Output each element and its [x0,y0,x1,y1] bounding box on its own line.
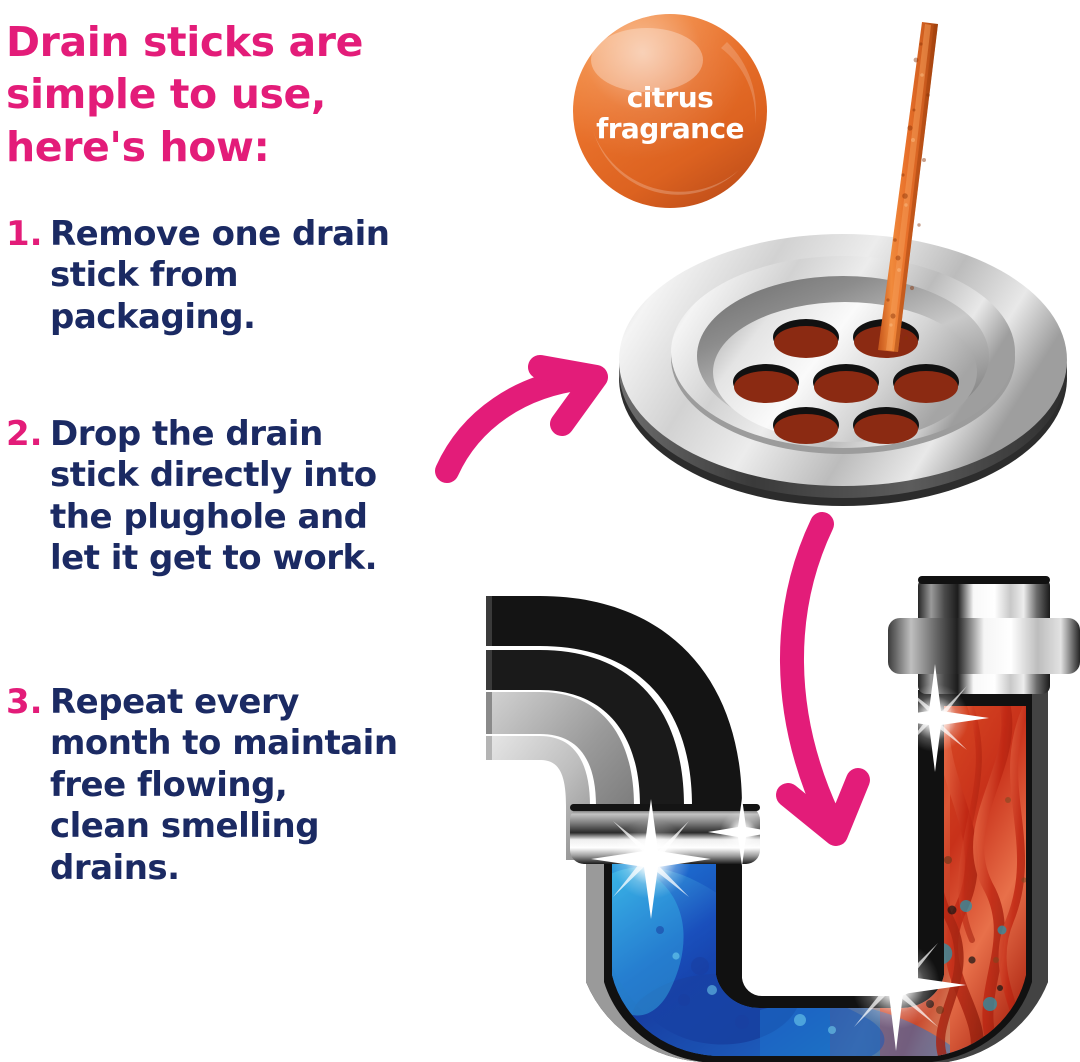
badge-text: citrus fragrance [571,12,769,210]
sink-drain-strainer [619,234,1067,506]
citrus-fragrance-badge: citrus fragrance [571,12,769,210]
pipe-top-fitting [888,576,1080,694]
step-number-2: 2. [2,414,50,455]
step-item-2: 2. Drop the drain stick directly into th… [2,414,488,580]
step-text-1: Remove one drain stick from packaging. [50,214,488,338]
drain-stick [878,22,938,352]
step-number-1: 1. [2,214,50,255]
pipe-left-fitting [570,804,760,864]
step-text-3: Repeat every month to maintain free flow… [50,682,488,889]
page-title: Drain sticks are simple to use, here's h… [6,16,476,173]
step-item-1: 1. Remove one drain stick from packaging… [2,214,488,338]
arrow-to-pipe-icon [788,524,858,834]
step-text-2: Drop the drain stick directly into the p… [50,414,488,580]
u-bend-trap-pipe [486,576,1080,1062]
sparkle-icons [591,664,989,1051]
badge-line-1: citrus [627,82,713,113]
drain-holes [733,319,959,444]
pipe-inlet-elbow [486,596,742,860]
instructions-text-column: Drain sticks are simple to use, here's h… [0,0,500,1062]
step-number-3: 3. [2,682,50,723]
step-item-3: 3. Repeat every month to maintain free f… [2,682,488,889]
badge-line-2: fragrance [596,113,744,144]
drain-sticks-infographic: citrus fragrance Drain sticks are simple… [0,0,1080,1062]
